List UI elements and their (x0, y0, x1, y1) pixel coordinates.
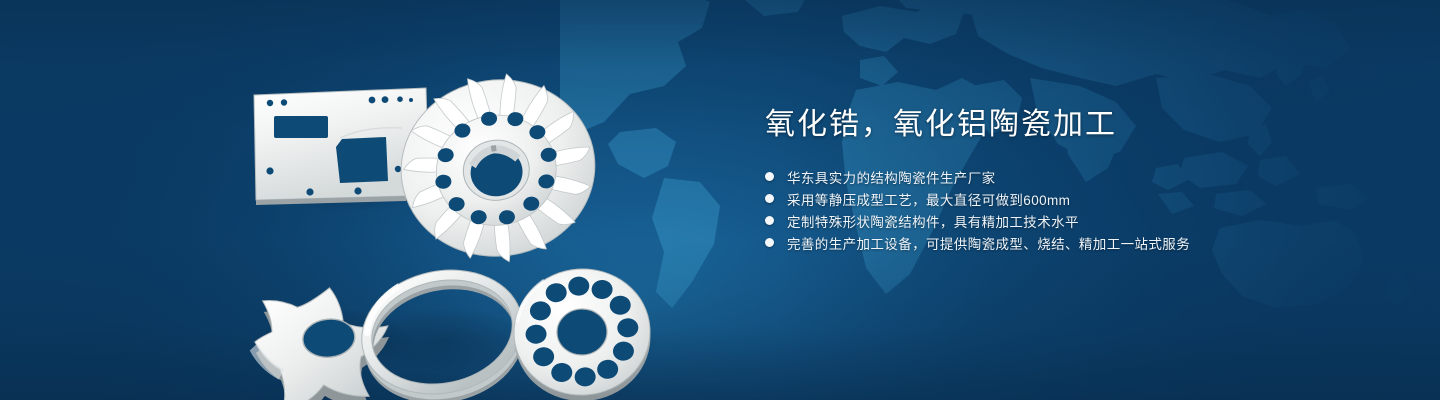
marketing-copy: 氧化锆，氧化铝陶瓷加工 华东具实力的结构陶瓷件生产厂家 采用等静压成型工艺，最大… (765, 106, 1385, 254)
bullet-dot-icon (765, 172, 774, 181)
feature-text: 采用等静压成型工艺，最大直径可做到600mm (787, 189, 1070, 209)
list-item: 定制特殊形状陶瓷结构件，具有精加工技术水平 (765, 210, 1385, 232)
feature-text: 定制特殊形状陶瓷结构件，具有精加工技术水平 (787, 211, 1079, 231)
feature-text: 完善的生产加工设备，可提供陶瓷成型、烧结、精加工一站式服务 (787, 233, 1190, 253)
bullet-dot-icon (765, 238, 774, 247)
feature-list: 华东具实力的结构陶瓷件生产厂家 采用等静压成型工艺，最大直径可做到600mm 定… (765, 166, 1385, 254)
product-photo-group (230, 40, 680, 380)
feature-text: 华东具实力的结构陶瓷件生产厂家 (787, 167, 996, 187)
list-item: 采用等静压成型工艺，最大直径可做到600mm (765, 188, 1385, 210)
bullet-dot-icon (765, 216, 774, 225)
hero-banner: 氧化锆，氧化铝陶瓷加工 华东具实力的结构陶瓷件生产厂家 采用等静压成型工艺，最大… (0, 0, 1440, 400)
page-title: 氧化锆，氧化铝陶瓷加工 (765, 106, 1385, 144)
bullet-dot-icon (765, 194, 774, 203)
ceramic-perforated-disc-part (510, 264, 655, 400)
list-item: 完善的生产加工设备，可提供陶瓷成型、烧结、精加工一站式服务 (765, 232, 1385, 254)
list-item: 华东具实力的结构陶瓷件生产厂家 (765, 166, 1385, 188)
ceramic-plate-part (254, 88, 428, 205)
